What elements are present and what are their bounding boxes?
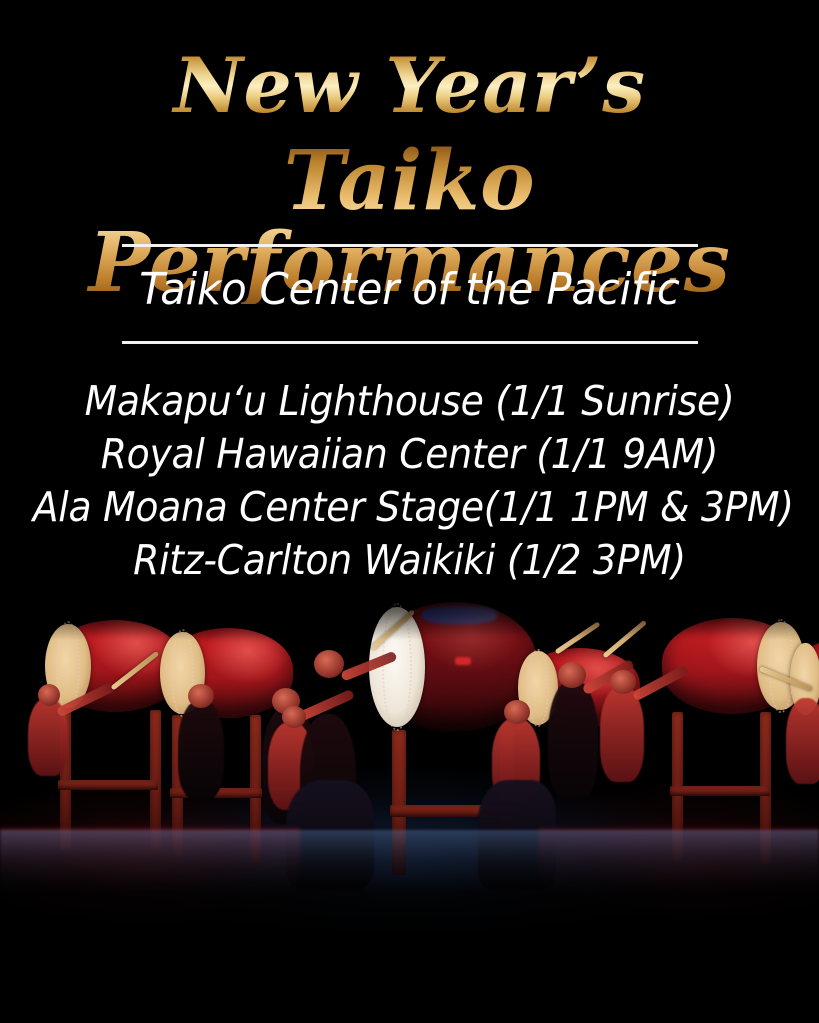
performer bbox=[786, 698, 819, 784]
title-line-new-years: New Year’s bbox=[0, 48, 819, 124]
venue-item: Ritz-Carlton Waikiki (1/2 3PM) bbox=[33, 534, 786, 587]
performer-head bbox=[188, 684, 214, 708]
drum-stand-bar bbox=[58, 780, 158, 790]
performer bbox=[548, 680, 598, 800]
performer-head bbox=[504, 700, 530, 724]
performer bbox=[600, 686, 644, 782]
venue-list: Makapuʻu Lighthouse (1/1 Sunrise) Royal … bbox=[0, 375, 819, 587]
taiko-performance-photo bbox=[0, 580, 819, 1023]
performer-head bbox=[314, 650, 344, 678]
performer-head bbox=[558, 662, 586, 688]
drum-stud bbox=[455, 657, 471, 665]
photo-bottom-fade bbox=[0, 823, 819, 1023]
taiko-event-poster: New Year’s Taiko Performances Taiko Cent… bbox=[0, 0, 819, 1023]
venue-item: Royal Hawaiian Center (1/1 9AM) bbox=[33, 428, 786, 481]
organization-subtitle: Taiko Center of the Pacific bbox=[20, 267, 798, 313]
performer bbox=[178, 700, 224, 800]
performer-head bbox=[38, 684, 60, 706]
venue-item: Ala Moana Center Stage(1/1 1PM & 3PM) bbox=[33, 481, 786, 534]
performer-head bbox=[610, 670, 636, 694]
drum-stand-bar bbox=[670, 786, 770, 796]
drum-rim bbox=[527, 649, 549, 727]
divider-rule-bottom bbox=[122, 341, 698, 344]
photo-top-fade bbox=[0, 580, 819, 640]
performer-head bbox=[282, 706, 306, 728]
venue-item: Makapuʻu Lighthouse (1/1 Sunrise) bbox=[33, 375, 786, 428]
divider-rule-top bbox=[122, 244, 698, 247]
